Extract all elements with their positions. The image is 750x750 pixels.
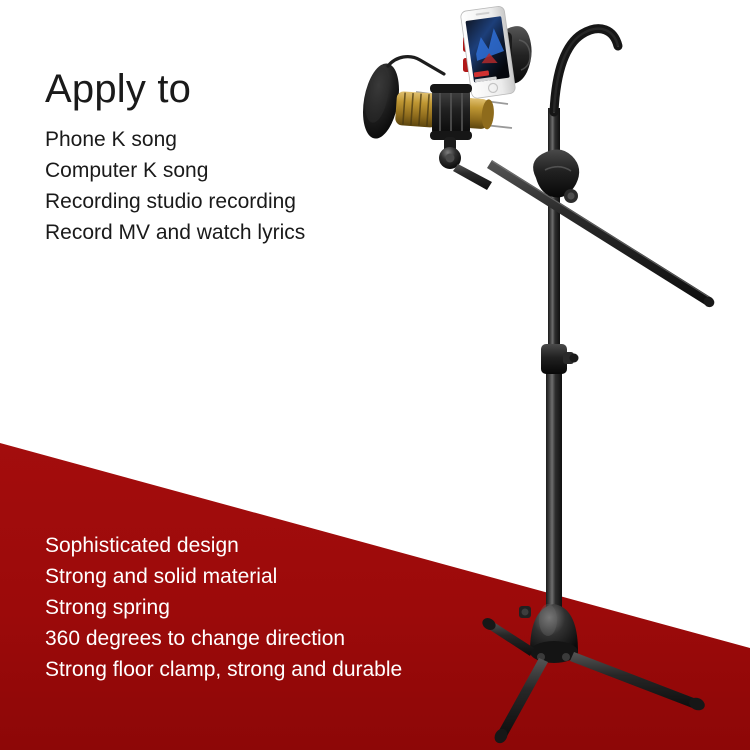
apply-item-record-mv: Record MV and watch lyrics bbox=[45, 217, 305, 248]
apply-to-section: Apply to Phone K song Computer K song Re… bbox=[45, 66, 305, 248]
apply-to-heading: Apply to bbox=[45, 66, 305, 112]
product-feature-image: Apply to Phone K song Computer K song Re… bbox=[0, 0, 750, 750]
apply-to-list: Phone K song Computer K song Recording s… bbox=[45, 124, 305, 248]
apply-item-computer-k-song: Computer K song bbox=[45, 155, 305, 186]
apply-item-recording-studio: Recording studio recording bbox=[45, 186, 305, 217]
apply-item-phone-k-song: Phone K song bbox=[45, 124, 305, 155]
feature-item-solid-material: Strong and solid material bbox=[45, 561, 402, 592]
feature-item-strong-spring: Strong spring bbox=[45, 592, 402, 623]
features-section: Sophisticated design Strong and solid ma… bbox=[45, 530, 402, 685]
feature-item-floor-clamp: Strong floor clamp, strong and durable bbox=[45, 654, 402, 685]
feature-item-sophisticated-design: Sophisticated design bbox=[45, 530, 402, 561]
feature-item-360-degrees: 360 degrees to change direction bbox=[45, 623, 402, 654]
